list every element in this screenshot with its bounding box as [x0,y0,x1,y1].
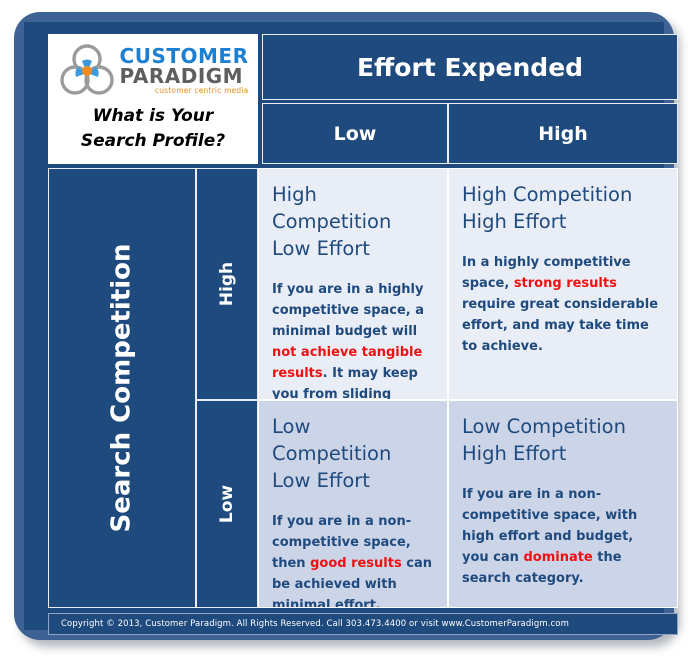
quadrant-body: In a highly competitive space, strong re… [462,252,664,357]
row-header-high: High [196,168,258,400]
quadrant-body: If you are in a non-competitive space, t… [272,511,434,608]
quadrant-body: If you are in a highly competitive space… [272,279,434,400]
row-axis-header: Search Competition [48,168,196,608]
column-axis-header: Effort Expended [262,34,678,100]
page-title-line2: Search Profile? [48,129,258,154]
column-header-high: High [448,103,678,164]
row-header-low-label: Low [217,485,237,523]
quadrant-high-competition-low-effort: High Competition Low Effort If you are i… [258,168,448,400]
quadrant-body-highlight: good results [310,556,402,571]
quadrant-title-line2: Low Effort [272,467,434,494]
quadrant-body-pre: If you are in a highly competitive space… [272,282,424,339]
quadrant-title-line2: Low Effort [272,235,434,262]
quadrant-title-line1: High Competition [272,181,434,235]
quadrant-title: High Competition High Effort [462,181,664,235]
brand-name-line1: CUSTOMER [120,47,249,66]
poster-inner-panel: CUSTOMER PARADIGM customer centric media… [24,22,664,630]
quadrant-body-highlight: dominate [523,550,592,565]
quadrant-low-competition-high-effort: Low Competition High Effort If you are i… [448,400,678,608]
quadrant-body-highlight: strong results [514,276,617,291]
quadrant-title-line2: High Effort [462,208,664,235]
copyright-footer: Copyright © 2013, Customer Paradigm. All… [48,613,678,635]
quadrant-title: High Competition Low Effort [272,181,434,262]
quadrant-body-post: require great considerable effort, and m… [462,297,658,354]
page-title-line1: What is Your [48,104,258,129]
brand-wordmark: CUSTOMER PARADIGM customer centric media [120,47,249,96]
brand-logo: CUSTOMER PARADIGM customer centric media [48,40,258,102]
quadrant-title-line1: High Competition [462,181,664,208]
quadrant-title-line2: High Effort [462,440,664,467]
quadrant-body: If you are in a non-competitive space, w… [462,484,664,589]
quadrant-title-line1: Low Competition [462,413,664,440]
quadrant-title: Low Competition Low Effort [272,413,434,494]
trefoil-circles-logo-icon [58,43,116,99]
row-header-high-label: High [217,262,237,306]
row-axis-header-label: Search Competition [107,243,137,532]
brand-tagline: customer centric media [155,86,249,96]
quadrant-high-competition-high-effort: High Competition High Effort In a highly… [448,168,678,400]
brand-title-box: CUSTOMER PARADIGM customer centric media… [48,34,258,164]
quadrant-title-line1: Low Competition [272,413,434,467]
page-title: What is Your Search Profile? [48,104,258,154]
brand-name-line2: PARADIGM [120,66,244,86]
quadrant-title: Low Competition High Effort [462,413,664,467]
row-header-low: Low [196,400,258,608]
quadrant-low-competition-low-effort: Low Competition Low Effort If you are in… [258,400,448,608]
column-header-low: Low [262,103,448,164]
poster-frame: CUSTOMER PARADIGM customer centric media… [14,12,674,640]
